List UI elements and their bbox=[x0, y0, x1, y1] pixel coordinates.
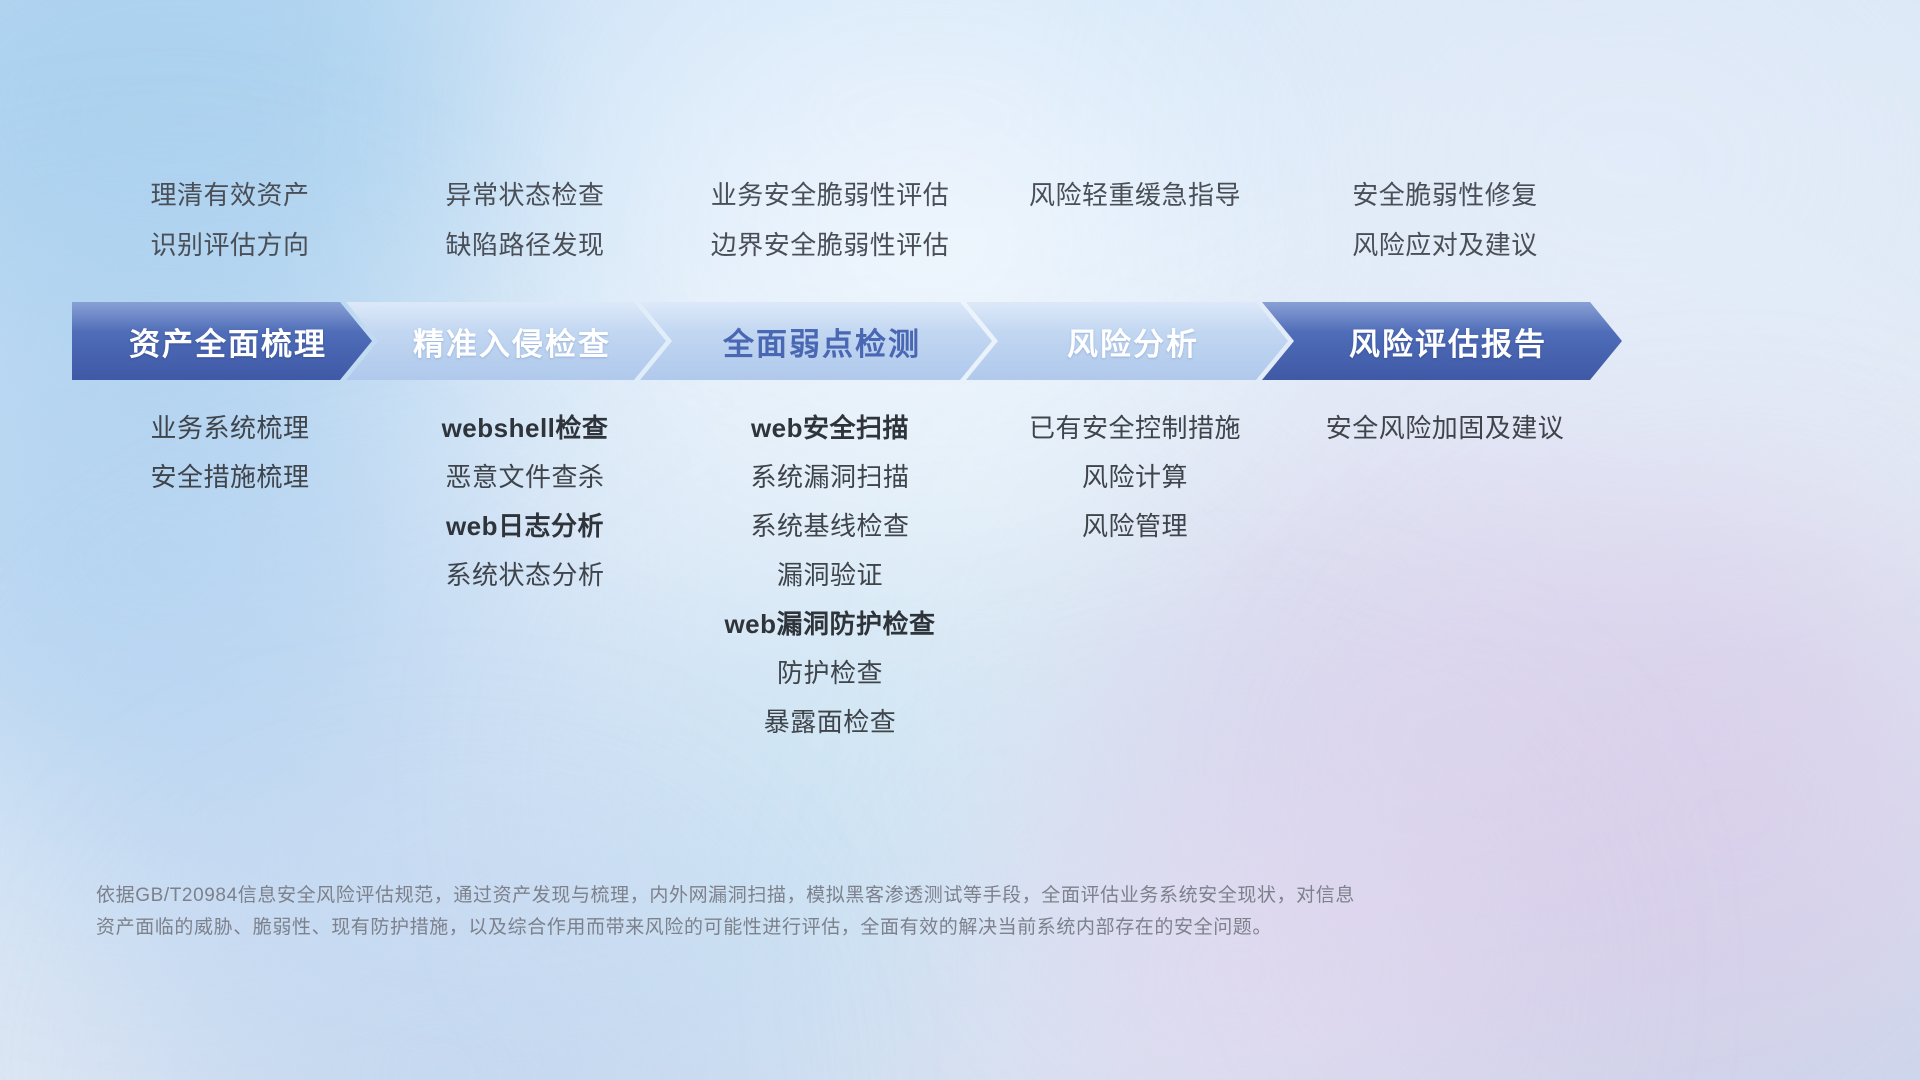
stage-outcomes-intrusion-check: 异常状态检查 缺陷路径发现 bbox=[380, 182, 670, 282]
stage-activities-risk-report: 安全风险加固及建议 bbox=[1280, 415, 1610, 758]
activity-item: web日志分析 bbox=[380, 513, 670, 539]
outcome-item: 风险应对及建议 bbox=[1280, 232, 1610, 258]
stage-activities-risk-analysis: 已有安全控制措施 风险计算 风险管理 bbox=[990, 415, 1280, 758]
stage-outcomes-risk-analysis: 风险轻重缓急指导 bbox=[990, 182, 1280, 282]
activity-item: 业务系统梳理 bbox=[80, 415, 380, 441]
outcome-item: 缺陷路径发现 bbox=[380, 232, 670, 258]
activity-item: 风险计算 bbox=[990, 464, 1280, 490]
activity-item: 系统基线检查 bbox=[670, 513, 990, 539]
activity-item: 已有安全控制措施 bbox=[990, 415, 1280, 441]
stage-title: 资产全面梳理 bbox=[129, 319, 327, 364]
stage-outcomes-risk-report: 安全脆弱性修复 风险应对及建议 bbox=[1280, 182, 1610, 282]
outcome-item: 理清有效资产 bbox=[80, 182, 380, 208]
stage-activities-row: 业务系统梳理 安全措施梳理 webshell检查 恶意文件查杀 web日志分析 … bbox=[80, 415, 1840, 758]
activity-item: 恶意文件查杀 bbox=[380, 464, 670, 490]
outcome-item: 识别评估方向 bbox=[80, 232, 380, 258]
footer-line: 资产面临的威胁、脆弱性、现有防护措施，以及综合作用而带来风险的可能性进行评估，全… bbox=[96, 912, 1616, 944]
stage-chevron-asset-inventory[interactable]: 资产全面梳理 bbox=[72, 302, 372, 380]
outcome-item: 安全脆弱性修复 bbox=[1280, 182, 1610, 208]
stage-title: 风险评估报告 bbox=[1349, 319, 1547, 364]
activity-item: 漏洞验证 bbox=[670, 562, 990, 588]
outcome-item: 边界安全脆弱性评估 bbox=[670, 232, 990, 258]
outcome-item: 异常状态检查 bbox=[380, 182, 670, 208]
stage-activities-weakness-detection: web安全扫描 系统漏洞扫描 系统基线检查 漏洞验证 web漏洞防护检查 防护检… bbox=[670, 415, 990, 758]
stage-outcomes-row: 理清有效资产 识别评估方向 异常状态检查 缺陷路径发现 业务安全脆弱性评估 边界… bbox=[80, 182, 1840, 282]
stage-chevron-risk-report[interactable]: 风险评估报告 bbox=[1262, 302, 1622, 380]
footer-description: 依据GB/T20984信息安全风险评估规范，通过资产发现与梳理，内外网漏洞扫描，… bbox=[96, 880, 1616, 944]
outcome-item: 风险轻重缓急指导 bbox=[990, 182, 1280, 208]
footer-line: 依据GB/T20984信息安全风险评估规范，通过资产发现与梳理，内外网漏洞扫描，… bbox=[96, 880, 1616, 912]
activity-item: 风险管理 bbox=[990, 513, 1280, 539]
stage-activities-intrusion-check: webshell检查 恶意文件查杀 web日志分析 系统状态分析 bbox=[380, 415, 670, 758]
activity-item: 安全风险加固及建议 bbox=[1280, 415, 1610, 441]
stage-outcomes-weakness-detection: 业务安全脆弱性评估 边界安全脆弱性评估 bbox=[670, 182, 990, 282]
stage-outcomes-asset-inventory: 理清有效资产 识别评估方向 bbox=[80, 182, 380, 282]
activity-item: 安全措施梳理 bbox=[80, 464, 380, 490]
process-flow-diagram: 理清有效资产 识别评估方向 异常状态检查 缺陷路径发现 业务安全脆弱性评估 边界… bbox=[0, 0, 1920, 1080]
stage-chevron-weakness-detection[interactable]: 全面弱点检测 bbox=[640, 302, 992, 380]
stage-chevron-band: 资产全面梳理 精准入侵检查 全面弱点检测 风险分析 风险评估报告 bbox=[72, 302, 1852, 380]
activity-item: 暴露面检查 bbox=[670, 709, 990, 735]
stage-activities-asset-inventory: 业务系统梳理 安全措施梳理 bbox=[80, 415, 380, 758]
activity-item: 防护检查 bbox=[670, 660, 990, 686]
outcome-item: 业务安全脆弱性评估 bbox=[670, 182, 990, 208]
stage-chevron-risk-analysis[interactable]: 风险分析 bbox=[966, 302, 1288, 380]
activity-item: web安全扫描 bbox=[670, 415, 990, 441]
stage-title: 精准入侵检查 bbox=[413, 319, 611, 364]
activity-item: 系统漏洞扫描 bbox=[670, 464, 990, 490]
activity-item: web漏洞防护检查 bbox=[670, 611, 990, 637]
stage-title: 全面弱点检测 bbox=[723, 319, 921, 364]
stage-chevron-intrusion-check[interactable]: 精准入侵检查 bbox=[346, 302, 666, 380]
activity-item: 系统状态分析 bbox=[380, 562, 670, 588]
activity-item: webshell检查 bbox=[380, 415, 670, 441]
stage-title: 风险分析 bbox=[1067, 319, 1199, 364]
